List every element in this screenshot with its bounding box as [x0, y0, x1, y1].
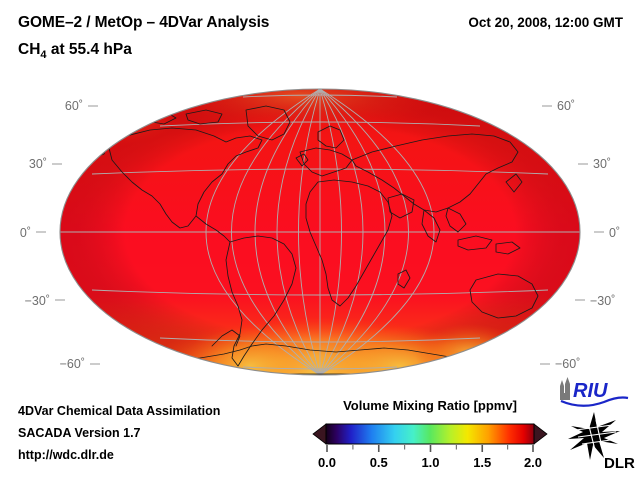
lat-label-left-m60: −60˚: [60, 357, 85, 371]
footer-line-3[interactable]: http://wdc.dlr.de: [18, 444, 220, 466]
lat-label-left-30: 30˚: [29, 157, 47, 171]
footer-line-1: 4DVar Chemical Data Assimilation: [18, 400, 220, 422]
colorbar-tick-label-2: 1.0: [421, 455, 439, 470]
dlr-star-icon: [568, 412, 620, 460]
riu-tower-icon: [560, 377, 570, 400]
lat-label-right-0: 0˚: [609, 226, 620, 240]
world-map-mollweide: 60˚ 30˚ 0˚ −30˚ −60˚ 60˚ 30˚ 0˚ −30˚ −60…: [0, 78, 640, 388]
colorbar-gradient: [326, 424, 534, 444]
colorbar-underflow-arrow: [313, 424, 326, 444]
lat-label-right-m30: −30˚: [590, 294, 615, 308]
lat-label-right-30: 30˚: [593, 157, 611, 171]
colorbar-major-ticks: [327, 445, 533, 452]
footer-credits: 4DVar Chemical Data Assimilation SACADA …: [18, 400, 220, 466]
species-label: CH: [18, 41, 40, 58]
lat-label-right-m60: −60˚: [555, 357, 580, 371]
colorbar-tick-label-1: 0.5: [370, 455, 388, 470]
timestamp-label: Oct 20, 2008, 12:00 GMT: [468, 15, 623, 30]
lat-label-left-60: 60˚: [65, 99, 83, 113]
colorbar-tick-label-4: 2.0: [524, 455, 542, 470]
footer-line-2: SACADA Version 1.7: [18, 422, 220, 444]
lat-label-right-60: 60˚: [557, 99, 575, 113]
dlr-logo-text: DLR: [604, 455, 635, 472]
colorbar-overflow-arrow: [534, 424, 547, 444]
colorbar-tick-label-3: 1.5: [473, 455, 491, 470]
lat-label-left-m30: −30˚: [25, 294, 50, 308]
colorbar: Volume Mixing Ratio [ppmv]: [310, 398, 550, 473]
map-panel: 60˚ 30˚ 0˚ −30˚ −60˚ 60˚ 30˚ 0˚ −30˚ −60…: [0, 78, 640, 388]
dlr-logo: DLR: [566, 410, 638, 472]
colorbar-tick-label-0: 0.0: [318, 455, 336, 470]
colorbar-scale: 0.0 0.5 1.0 1.5 2.0: [310, 422, 550, 472]
colorbar-title: Volume Mixing Ratio [ppmv]: [310, 398, 550, 413]
page-subtitle: CH4 at 55.4 hPa: [18, 41, 132, 61]
pressure-level-label: at 55.4 hPa: [47, 41, 132, 58]
riu-logo-text: RIU: [573, 380, 608, 402]
page-title: GOME–2 / MetOp – 4DVar Analysis: [18, 14, 269, 32]
riu-logo: RIU: [556, 376, 636, 408]
lat-label-left-0: 0˚: [20, 226, 31, 240]
